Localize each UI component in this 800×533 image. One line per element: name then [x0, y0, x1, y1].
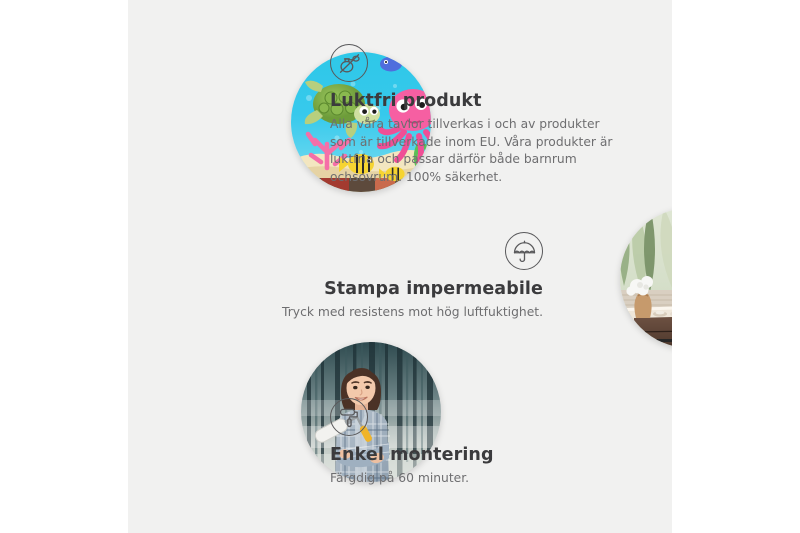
- no-odour-perfume-icon: [330, 44, 368, 82]
- bathroom-interior-photo: [620, 208, 672, 348]
- feature-title: Luktfri produkt: [330, 91, 620, 111]
- umbrella-icon: [505, 232, 543, 270]
- feature-title: Enkel montering: [330, 445, 620, 465]
- content-panel: Luktfri produkt Alla våra tavlor tillver…: [128, 0, 672, 533]
- feature-body: Alla våra tavlor tillverkas i och av pro…: [330, 116, 620, 186]
- feature-body: Tryck med resistens mot hög luftfuktighe…: [208, 304, 543, 322]
- feature-body: Färgdig på 60 minuter.: [330, 470, 620, 488]
- feature-odourless: Luktfri produkt Alla våra tavlor tillver…: [330, 44, 620, 186]
- feature-title: Stampa impermeabile: [208, 279, 543, 299]
- feature-waterproof: Stampa impermeabile Tryck med resistens …: [208, 232, 543, 322]
- promo-graphic: Luktfri produkt Alla våra tavlor tillver…: [0, 0, 800, 533]
- feature-assembly: Enkel montering Färgdig på 60 minuter.: [330, 398, 620, 488]
- paint-roller-icon: [330, 398, 368, 436]
